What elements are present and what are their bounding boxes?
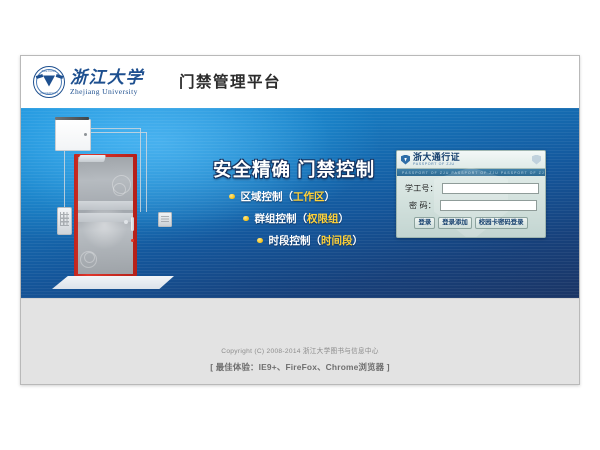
floor-slab [52,276,174,289]
seal-wing-left [35,74,43,79]
login-title: 浙大通行证 [413,153,460,162]
login-subtitle: PASSPORT OF ZJU [413,163,460,167]
feature-label: 时段控制（时间段） [269,233,364,248]
door-pattern-2 [113,183,126,196]
login-decorative-strip: PASSPORT OF ZJU PASSPORT OF ZJU PASSPORT… [397,169,545,176]
field-row-password: 密 码： [405,200,537,211]
seal-arc-bottom-text: UNIVERSITY [40,92,59,95]
slogan-block: 安全精确 门禁控制 区域控制（工作区） 群组控制（权限组） 时段控制（时间段） [213,156,423,248]
wordmark-english: Zhejiang University [70,88,144,96]
password-label: 密 码： [405,200,436,211]
slogan-headline: 安全精确 门禁控制 [213,156,423,182]
wire-top-a [89,128,141,129]
page-title: 门禁管理平台 [179,70,281,92]
card-reader-icon [158,212,172,227]
door-frame [74,154,137,276]
bullet-dot-icon [243,216,249,222]
door-pattern-4 [84,252,95,263]
feature-item-area-control: 区域控制（工作区） [229,189,423,204]
browser-recommendation-text: [ 最佳体验：IE9+、FireFox、Chrome浏览器 ] [21,361,579,373]
door-status-led [131,239,134,242]
door-knob [124,220,128,224]
password-input[interactable] [440,200,537,211]
bullet-dot-icon [229,194,235,200]
wire-left [64,149,65,207]
wordmark: 浙江大学 Zhejiang University [70,69,144,95]
wordmark-chinese: 浙江大学 [70,69,144,86]
field-row-userid: 学工号： [405,183,537,194]
hero-banner: 安全精确 门禁控制 区域控制（工作区） 群组控制（权限组） 时段控制（时间段） … [21,108,579,298]
door-band-upper [78,201,133,210]
access-control-door-illustration [43,114,193,294]
bullet-dot-icon [257,238,263,244]
shield-icon [401,155,410,165]
login-button-row: 登录 登录添加 校园卡密码登录 [405,217,537,229]
door-closer-arm [78,155,106,162]
campus-card-login-button[interactable]: 校园卡密码登录 [475,217,528,229]
copyright-text: Copyright (C) 2008-2014 浙江大学图书与信息中心 [21,345,579,355]
site-footer: Copyright (C) 2008-2014 浙江大学图书与信息中心 [ 最佳… [21,298,579,385]
controller-box-icon [55,119,91,151]
seal-arc-top-text: ZHEJIANG [41,70,56,73]
wire-right-a [140,128,141,212]
page-container: ZHEJIANG UNIVERSITY 浙江大学 Zhejiang Univer… [20,55,580,385]
keypad-buttons [60,212,69,226]
feature-label: 群组控制（权限组） [255,211,350,226]
university-logo[interactable]: ZHEJIANG UNIVERSITY 浙江大学 Zhejiang Univer… [33,65,144,99]
userid-input[interactable] [442,183,539,194]
shield-watermark-icon [532,155,541,165]
login-form: 学工号： 密 码： 登录 登录添加 校园卡密码登录 [397,176,545,237]
wire-right-b [146,132,147,212]
seal-wing-right [55,74,63,79]
door-leaf [78,157,133,274]
seal-bird-shape [43,75,55,86]
site-header: ZHEJIANG UNIVERSITY 浙江大学 Zhejiang Univer… [21,56,579,109]
login-title-group: 浙大通行证 PASSPORT OF ZJU [413,153,460,167]
login-strip-text: PASSPORT OF ZJU PASSPORT OF ZJU PASSPORT… [397,171,545,175]
login-panel-header: 浙大通行证 PASSPORT OF ZJU [397,151,545,169]
login-button[interactable]: 登录 [414,217,435,229]
keypad-reader-icon [57,207,72,235]
login-add-button[interactable]: 登录添加 [438,217,472,229]
zju-seal-icon: ZHEJIANG UNIVERSITY [33,66,65,98]
login-panel: 浙大通行证 PASSPORT OF ZJU PASSPORT OF ZJU PA… [396,150,546,238]
wire-top-b [89,132,147,133]
controller-indicator [84,133,87,136]
userid-label: 学工号： [405,183,438,194]
door-handle [131,217,135,231]
feature-label: 区域控制（工作区） [241,189,336,204]
